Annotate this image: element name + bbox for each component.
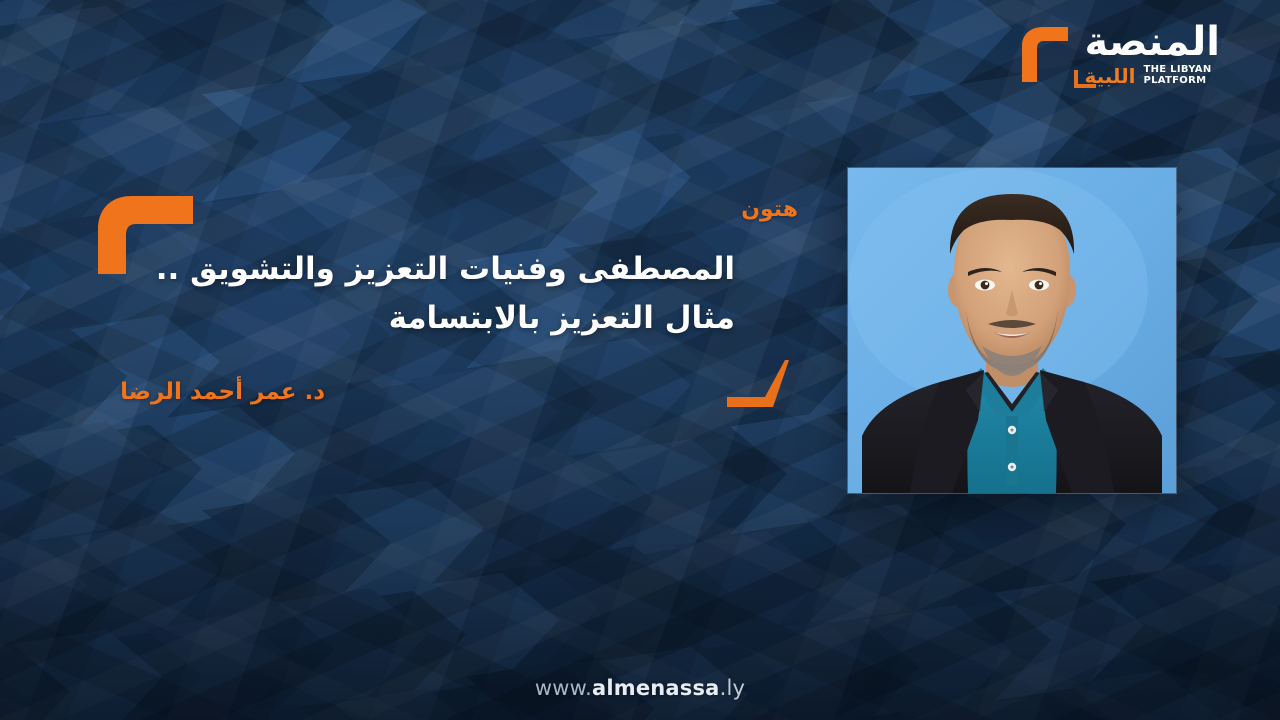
logo-mark-icon: [1016, 26, 1074, 82]
url-name: almenassa: [592, 676, 720, 700]
url-tld: .ly: [720, 676, 746, 700]
article-headline: المصطفى وفنيات التعزيز والتشويق .. مثال …: [175, 245, 735, 343]
logo-arabic-wordmark: المنصة: [1084, 22, 1220, 62]
article-card: المنصة THE LIBYAN PLATFORM اللبية: [0, 0, 1280, 720]
logo-english-line-1: THE LIBYAN: [1143, 64, 1211, 75]
headline-line-2: مثال التعزيز بالابتسامة: [175, 294, 735, 343]
article-kicker: هتون: [741, 197, 798, 222]
orange-corner-bracket-icon: [727, 360, 789, 407]
headline-line-1: المصطفى وفنيات التعزيز والتشويق ..: [175, 245, 735, 294]
article-author: د. عمر أحمد الرضا: [120, 379, 325, 405]
logo-english-line-2: PLATFORM: [1143, 75, 1211, 86]
logo-subtitle-row: THE LIBYAN PLATFORM اللبية: [1084, 64, 1211, 86]
logo-english-wordmark: THE LIBYAN PLATFORM: [1143, 64, 1211, 86]
logo-corner-tick-icon: [1074, 70, 1096, 88]
author-portrait-photo: [848, 168, 1176, 493]
brand-logo[interactable]: المنصة THE LIBYAN PLATFORM اللبية: [1016, 22, 1220, 86]
logo-text-group: المنصة THE LIBYAN PLATFORM اللبية: [1084, 22, 1220, 86]
url-prefix: www.: [535, 676, 592, 700]
footer-website-url[interactable]: www.almenassa.ly: [0, 676, 1280, 700]
